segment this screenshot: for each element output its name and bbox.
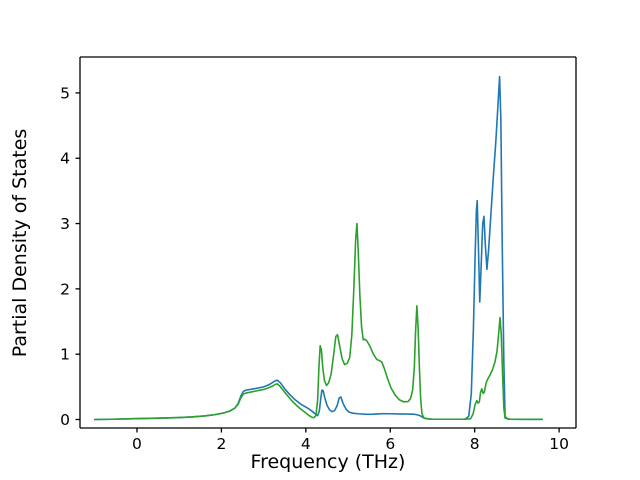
y-tick-label: 4 <box>60 150 70 168</box>
x-tick-label: 10 <box>549 435 569 453</box>
y-axis-title: Partial Density of States <box>9 129 31 358</box>
x-tick-label: 2 <box>216 435 226 453</box>
y-tick-label: 1 <box>60 346 70 364</box>
y-tick-label: 2 <box>60 280 70 298</box>
y-tick-label: 5 <box>60 84 70 102</box>
figure-canvas: 0246810012345 Frequency (THz) Partial De… <box>0 0 640 480</box>
x-axis-title: Frequency (THz) <box>251 451 406 473</box>
chart-plot: 0246810012345 Frequency (THz) Partial De… <box>0 0 640 480</box>
x-tick-label: 8 <box>470 435 480 453</box>
x-tick-label: 0 <box>132 435 142 453</box>
y-tick-label: 0 <box>60 411 70 429</box>
y-tick-label: 3 <box>60 215 70 233</box>
